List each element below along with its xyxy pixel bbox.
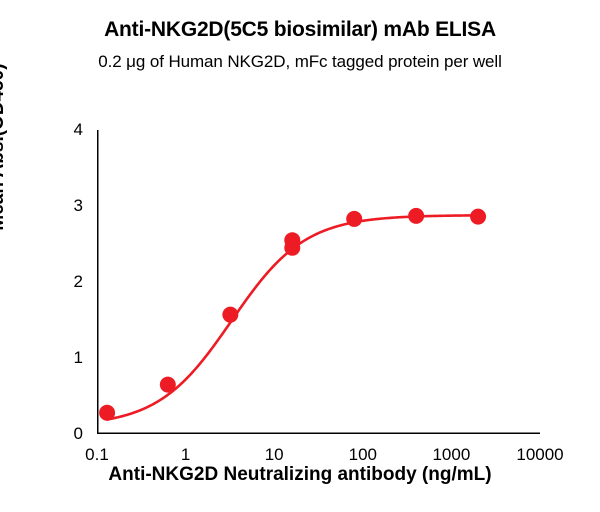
data-markers: [99, 208, 486, 421]
y-tick-label: 3: [74, 196, 83, 216]
y-tick-label: 4: [74, 120, 83, 140]
chart-title: Anti-NKG2D(5C5 biosimilar) mAb ELISA: [0, 18, 600, 42]
data-point-marker: [470, 209, 486, 225]
plot-canvas: [97, 130, 540, 434]
y-axis-label: Mean Abs.(OD450): [0, 0, 9, 357]
x-tick-label: 1000: [432, 445, 470, 465]
data-point-marker: [222, 307, 238, 323]
y-tick-label: 1: [74, 348, 83, 368]
x-tick-label: 10: [265, 445, 284, 465]
data-point-marker: [408, 208, 424, 224]
x-axis-label: Anti-NKG2D Neutralizing antibody (ng/mL): [0, 464, 600, 486]
y-tick-label: 2: [74, 272, 83, 292]
data-point-marker: [346, 211, 362, 227]
data-point-marker: [284, 240, 300, 256]
data-point-marker: [160, 377, 176, 393]
x-tick-label: 10000: [516, 445, 563, 465]
chart-figure: Anti-NKG2D(5C5 biosimilar) mAb ELISA 0.2…: [0, 0, 600, 512]
chart-subtitle: 0.2 μg of Human NKG2D, mFc tagged protei…: [0, 52, 600, 72]
y-tick-label: 0: [74, 424, 83, 444]
data-point-marker: [99, 405, 115, 421]
x-tick-label: 0.1: [85, 445, 109, 465]
plot-area: [97, 130, 540, 434]
x-tick-label: 100: [349, 445, 377, 465]
x-tick-label: 1: [181, 445, 190, 465]
